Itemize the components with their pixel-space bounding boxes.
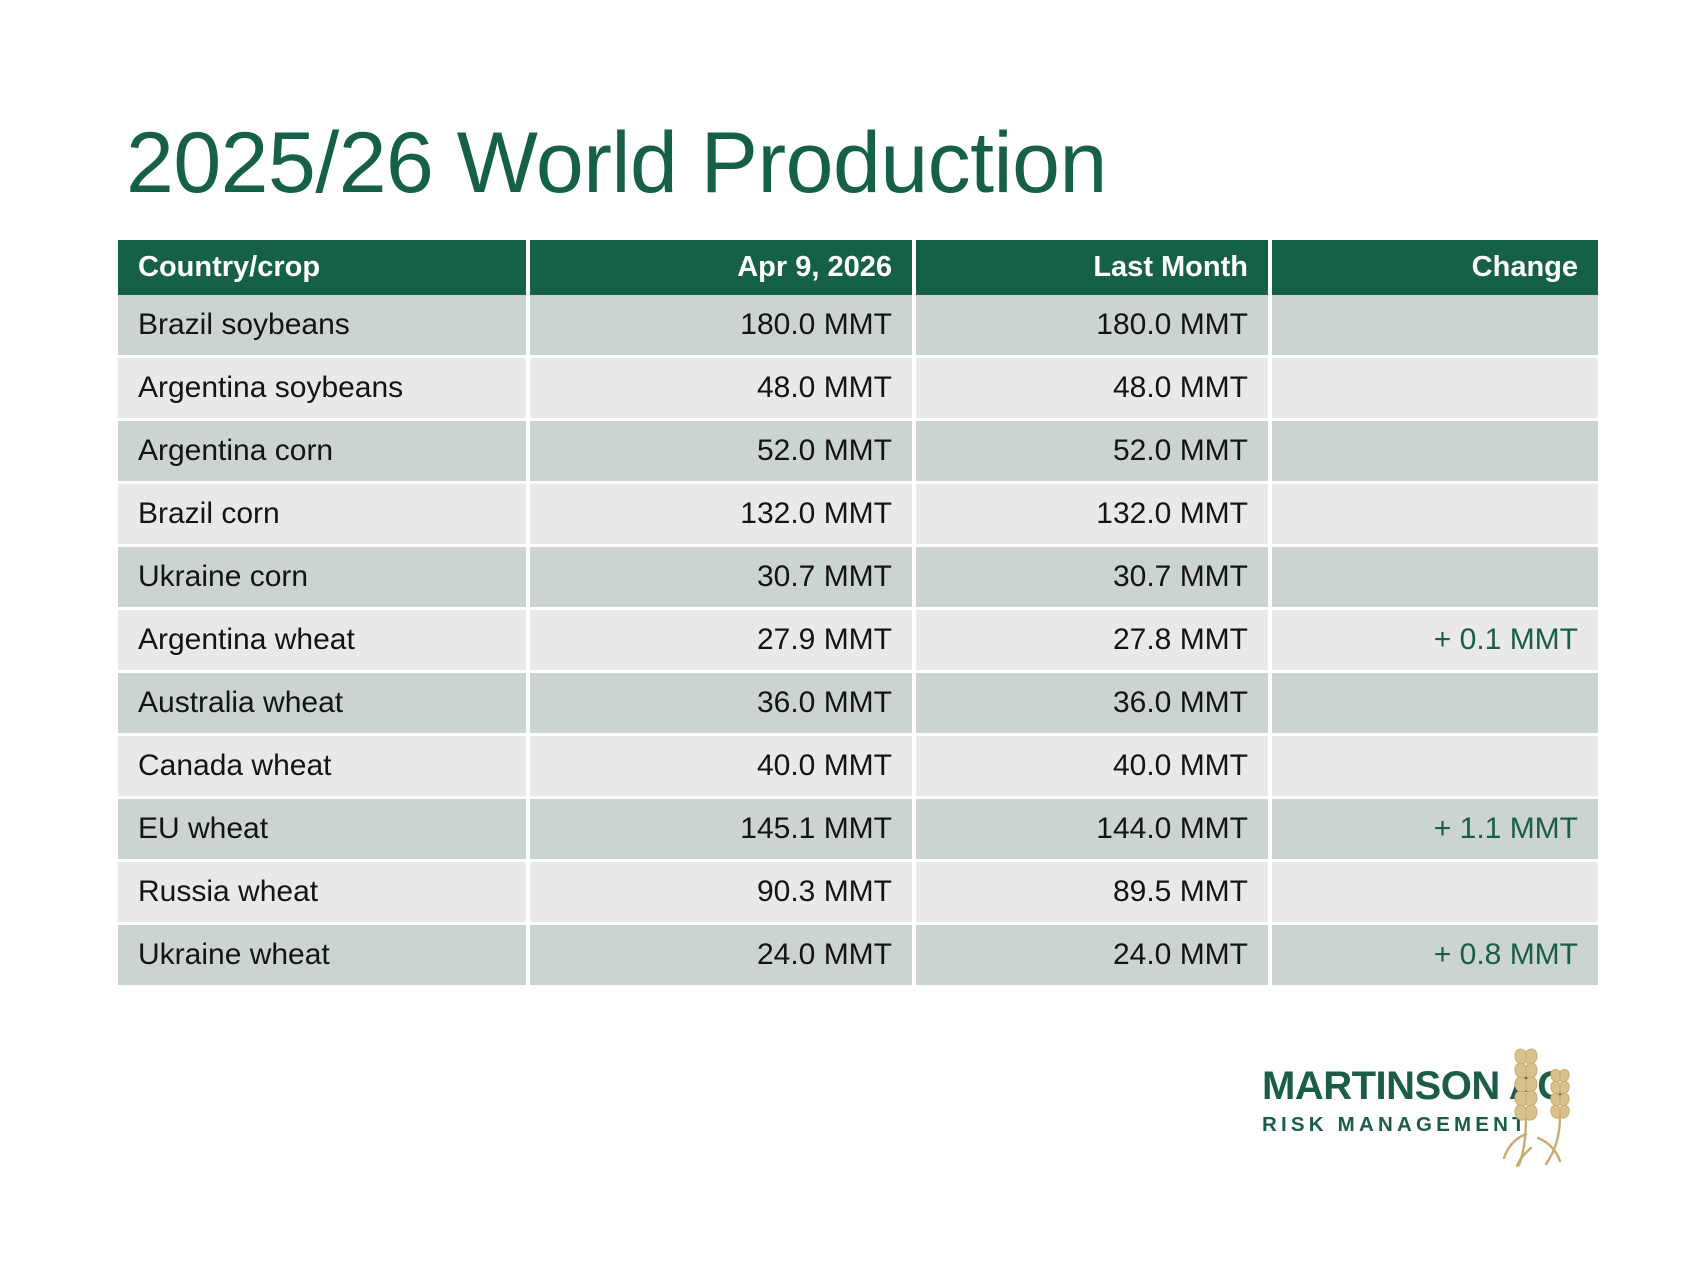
cell-last: 180.0 MMT [916,295,1272,358]
cell-name: Brazil soybeans [118,295,530,358]
cell-name: Brazil corn [118,484,530,547]
cell-last: 36.0 MMT [916,673,1272,736]
table-header-row: Country/crop Apr 9, 2026 Last Month Chan… [118,240,1598,295]
cell-change [1272,358,1598,421]
cell-current: 30.7 MMT [530,547,916,610]
cell-last: 144.0 MMT [916,799,1272,862]
table-row: EU wheat145.1 MMT144.0 MMT+ 1.1 MMT [118,799,1598,862]
cell-change [1272,673,1598,736]
table-row: Canada wheat40.0 MMT40.0 MMT [118,736,1598,799]
cell-name: Ukraine corn [118,547,530,610]
cell-change: + 1.1 MMT [1272,799,1598,862]
table-body: Brazil soybeans180.0 MMT180.0 MMTArgenti… [118,295,1598,988]
cell-name: EU wheat [118,799,530,862]
world-production-table: Country/crop Apr 9, 2026 Last Month Chan… [118,240,1598,988]
cell-name: Russia wheat [118,862,530,925]
logo-primary-text: MARTINSON AG [1262,1066,1524,1106]
cell-current: 36.0 MMT [530,673,916,736]
table-header: Country/crop Apr 9, 2026 Last Month Chan… [118,240,1598,295]
cell-change [1272,484,1598,547]
cell-current: 132.0 MMT [530,484,916,547]
cell-name: Ukraine wheat [118,925,530,988]
cell-last: 40.0 MMT [916,736,1272,799]
cell-last: 52.0 MMT [916,421,1272,484]
cell-current: 24.0 MMT [530,925,916,988]
column-header-country-crop[interactable]: Country/crop [118,240,530,295]
logo-secondary-text: RISK MANAGEMENT [1262,1115,1524,1136]
table-row: Argentina wheat27.9 MMT27.8 MMT+ 0.1 MMT [118,610,1598,673]
cell-name: Argentina corn [118,421,530,484]
table-row: Australia wheat36.0 MMT36.0 MMT [118,673,1598,736]
page-title: 2025/26 World Production [126,118,1107,208]
cell-last: 132.0 MMT [916,484,1272,547]
table-row: Argentina soybeans48.0 MMT48.0 MMT [118,358,1598,421]
cell-change [1272,295,1598,358]
cell-current: 180.0 MMT [530,295,916,358]
table-row: Ukraine corn30.7 MMT30.7 MMT [118,547,1598,610]
cell-current: 40.0 MMT [530,736,916,799]
cell-change [1272,736,1598,799]
cell-last: 24.0 MMT [916,925,1272,988]
cell-change [1272,862,1598,925]
cell-name: Canada wheat [118,736,530,799]
cell-change: + 0.8 MMT [1272,925,1598,988]
cell-last: 89.5 MMT [916,862,1272,925]
slide-canvas: 2025/26 World Production Country/crop Ap… [0,0,1707,1280]
table-row: Ukraine wheat24.0 MMT24.0 MMT+ 0.8 MMT [118,925,1598,988]
cell-change [1272,421,1598,484]
column-header-current-date[interactable]: Apr 9, 2026 [530,240,916,295]
logo-wordmark: MARTINSON AG RISK MANAGEMENT [1262,1066,1524,1136]
cell-current: 145.1 MMT [530,799,916,862]
column-header-change[interactable]: Change [1272,240,1598,295]
cell-current: 48.0 MMT [530,358,916,421]
cell-current: 52.0 MMT [530,421,916,484]
martinson-ag-logo: MARTINSON AG RISK MANAGEMENT [1262,1048,1592,1178]
cell-name: Argentina wheat [118,610,530,673]
cell-current: 90.3 MMT [530,862,916,925]
table-row: Russia wheat90.3 MMT89.5 MMT [118,862,1598,925]
cell-name: Australia wheat [118,673,530,736]
cell-last: 27.8 MMT [916,610,1272,673]
cell-name: Argentina soybeans [118,358,530,421]
cell-current: 27.9 MMT [530,610,916,673]
cell-change [1272,547,1598,610]
world-production-table-container: Country/crop Apr 9, 2026 Last Month Chan… [118,240,1598,988]
column-header-last-month[interactable]: Last Month [916,240,1272,295]
wheat-stalks-icon [1486,1042,1596,1168]
cell-last: 30.7 MMT [916,547,1272,610]
table-row: Brazil soybeans180.0 MMT180.0 MMT [118,295,1598,358]
table-row: Brazil corn132.0 MMT132.0 MMT [118,484,1598,547]
cell-last: 48.0 MMT [916,358,1272,421]
table-row: Argentina corn52.0 MMT52.0 MMT [118,421,1598,484]
cell-change: + 0.1 MMT [1272,610,1598,673]
